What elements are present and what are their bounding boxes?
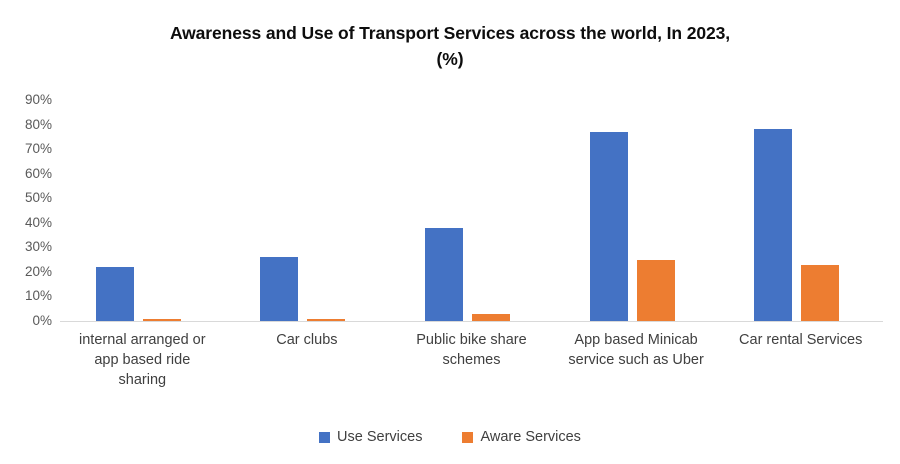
chart-title: Awareness and Use of Transport Services … xyxy=(96,20,804,72)
bar-use-4 xyxy=(590,132,628,321)
bar-aware-4 xyxy=(637,260,675,321)
x-axis-label-2: Car clubs xyxy=(217,330,398,350)
legend-label: Aware Services xyxy=(480,428,580,446)
y-axis-tick-label: 40% xyxy=(8,216,52,230)
y-axis-tick-label: 10% xyxy=(8,289,52,303)
bar-use-5 xyxy=(754,129,792,321)
x-axis-label-line: Car clubs xyxy=(217,330,398,350)
y-axis-tick-label: 0% xyxy=(8,314,52,328)
bar-chart: Awareness and Use of Transport Services … xyxy=(0,0,900,464)
legend-swatch-icon xyxy=(462,432,473,443)
x-axis-label-line: schemes xyxy=(381,350,562,370)
x-axis-label-line: app based ride xyxy=(52,350,233,370)
x-axis-label-line: Public bike share xyxy=(381,330,562,350)
x-axis-label-1: internal arranged orapp based ridesharin… xyxy=(52,330,233,390)
x-axis-label-3: Public bike shareschemes xyxy=(381,330,562,370)
chart-title-line-2: (%) xyxy=(96,46,804,72)
x-axis-label-line: App based Minicab xyxy=(546,330,727,350)
bar-use-1 xyxy=(96,267,134,321)
legend-label: Use Services xyxy=(337,428,422,446)
x-axis-line xyxy=(60,321,883,322)
legend-swatch-icon xyxy=(319,432,330,443)
bar-aware-5 xyxy=(801,265,839,321)
x-axis-label-line: service such as Uber xyxy=(546,350,727,370)
x-axis-label-line: internal arranged or xyxy=(52,330,233,350)
x-axis-label-5: Car rental Services xyxy=(710,330,891,350)
x-axis-label-4: App based Minicabservice such as Uber xyxy=(546,330,727,370)
x-axis-label-line: Car rental Services xyxy=(710,330,891,350)
chart-title-line-1: Awareness and Use of Transport Services … xyxy=(96,20,804,46)
y-axis-tick-label: 60% xyxy=(8,167,52,181)
chart-legend: Use ServicesAware Services xyxy=(0,424,900,450)
y-axis-tick-label: 50% xyxy=(8,191,52,205)
y-axis-tick-label: 20% xyxy=(8,265,52,279)
y-axis-tick-label: 90% xyxy=(8,93,52,107)
x-axis-category-labels: internal arranged orapp based ridesharin… xyxy=(60,330,883,400)
bar-use-2 xyxy=(260,257,298,321)
y-axis-tick-label: 70% xyxy=(8,142,52,156)
y-axis-tick-label: 80% xyxy=(8,118,52,132)
bar-aware-3 xyxy=(472,314,510,321)
legend-entry-2[interactable]: Aware Services xyxy=(462,428,580,446)
plot-area xyxy=(60,100,883,321)
y-axis: 90%80%70%60%50%40%30%20%10%0% xyxy=(8,100,52,322)
legend-entry-1[interactable]: Use Services xyxy=(319,428,422,446)
y-axis-tick-label: 30% xyxy=(8,240,52,254)
bar-use-3 xyxy=(425,228,463,321)
x-axis-label-line: sharing xyxy=(52,370,233,390)
